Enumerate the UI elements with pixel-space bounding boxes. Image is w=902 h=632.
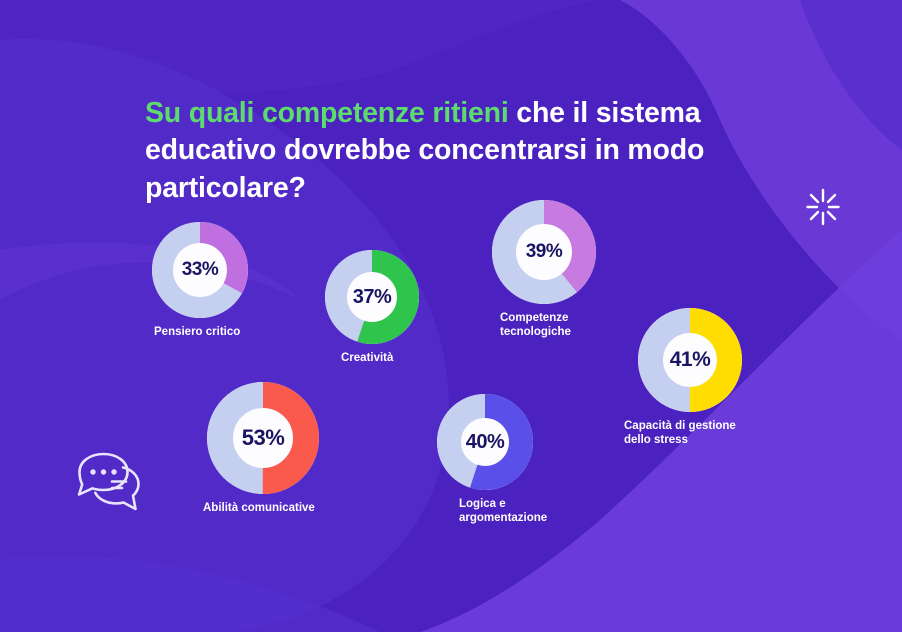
- donut-chart-competenze-tecnologiche[interactable]: 39% Competenze tecnologiche: [492, 200, 662, 339]
- donut-label-abilita-comunicative: Abilità comunicative: [203, 501, 397, 515]
- donut-ring: 53%: [207, 382, 397, 494]
- donut-value-abilita-comunicative: 53%: [207, 382, 319, 494]
- sparkle-icon: [802, 186, 844, 233]
- donut-chart-logica-argomentazione[interactable]: 40% Logica e argomentazione: [437, 394, 607, 525]
- title-highlight: Su quali competenze ritieni: [145, 97, 509, 129]
- donut-chart-abilita-comunicative[interactable]: 53% Abilità comunicative: [207, 382, 397, 515]
- donut-chart-creativita[interactable]: 37% Creatività: [325, 250, 475, 365]
- donut-ring: 33%: [152, 222, 312, 318]
- donut-ring: 40%: [437, 394, 607, 490]
- infographic-canvas: Su quali competenze ritieni che il siste…: [0, 0, 902, 632]
- donut-ring: 37%: [325, 250, 475, 344]
- donut-label-creativita: Creatività: [341, 351, 475, 365]
- donut-label-pensiero-critico: Pensiero critico: [154, 325, 312, 339]
- donut-label-capacita-gestione-stress: Capacità di gestione dello stress: [624, 419, 828, 447]
- donut-chart-pensiero-critico[interactable]: 33% Pensiero critico: [152, 222, 312, 339]
- donut-chart-capacita-gestione-stress[interactable]: 41% Capacità di gestione dello stress: [638, 308, 828, 447]
- donut-ring: 41%: [638, 308, 828, 412]
- donut-ring: 39%: [492, 200, 662, 304]
- page-title: Su quali competenze ritieni che il siste…: [145, 95, 765, 207]
- donut-value-creativita: 37%: [325, 250, 419, 344]
- donut-value-logica-argomentazione: 40%: [437, 394, 533, 490]
- donut-value-competenze-tecnologiche: 39%: [492, 200, 596, 304]
- donut-label-logica-argomentazione: Logica e argomentazione: [459, 497, 607, 525]
- chat-bubble-icon: [66, 447, 152, 524]
- donut-value-pensiero-critico: 33%: [152, 222, 248, 318]
- donut-value-capacita-gestione-stress: 41%: [638, 308, 742, 412]
